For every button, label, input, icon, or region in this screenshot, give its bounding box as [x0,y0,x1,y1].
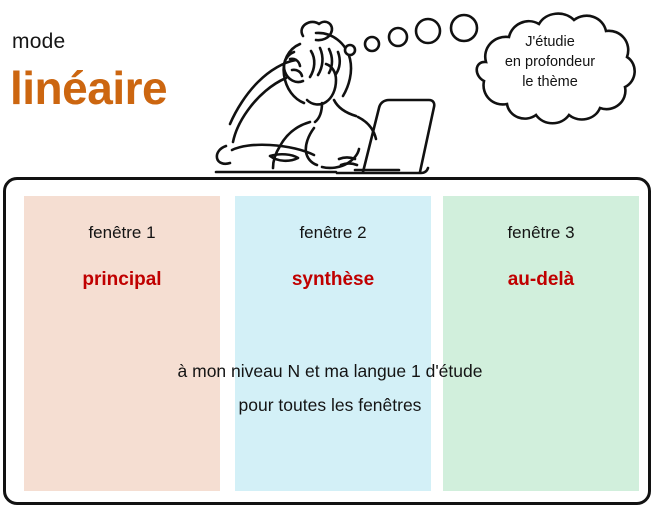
overlay-note: à mon niveau N et ma langue 1 d'étude po… [6,354,654,422]
panel-3-header: fenêtre 3 [443,222,639,244]
panel-fenetre-2[interactable]: fenêtre 2 synthèse [235,196,431,491]
panels-container: fenêtre 1 principal fenêtre 2 synthèse f… [6,180,654,508]
windows-frame: fenêtre 1 principal fenêtre 2 synthèse f… [3,177,651,505]
thought-bubble-line-2: en profondeur [470,52,630,72]
thought-dot-2 [365,37,379,51]
thought-bubble-line-3: le thème [470,72,630,92]
panel-fenetre-1[interactable]: fenêtre 1 principal [24,196,220,491]
panel-fenetre-3[interactable]: fenêtre 3 au-delà [443,196,639,491]
thought-dot-1 [345,45,355,55]
panel-1-header: fenêtre 1 [24,222,220,244]
overlay-note-line-2: pour toutes les fenêtres [6,388,654,422]
page-title: linéaire [10,62,167,114]
panel-2-header: fenêtre 2 [235,222,431,244]
overlay-note-line-1: à mon niveau N et ma langue 1 d'étude [6,354,654,388]
thought-dot-3 [389,28,407,46]
panel-3-keyword: au-delà [443,268,639,292]
panel-1-keyword: principal [24,268,220,292]
mode-label: mode [12,30,65,54]
panel-2-keyword: synthèse [235,268,431,292]
thought-bubble-text: J'étudie en profondeur le thème [470,32,630,92]
thought-dot-4 [416,19,440,43]
thought-bubble-line-1: J'étudie [470,32,630,52]
